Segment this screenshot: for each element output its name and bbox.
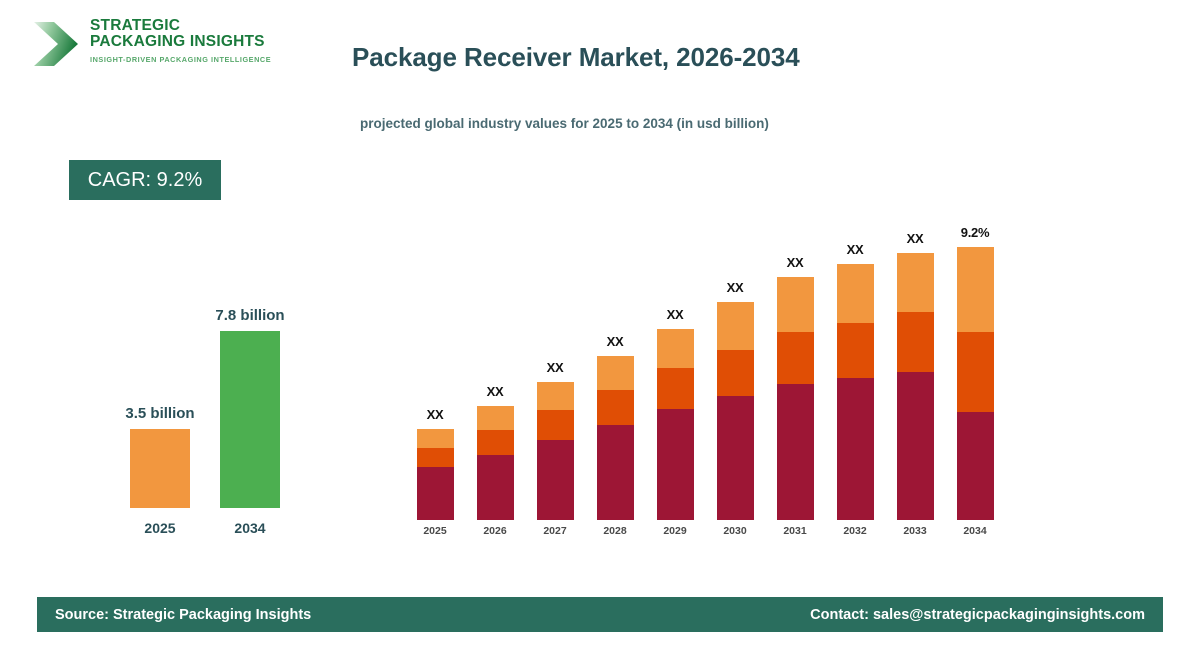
brand-name-line2: PACKAGING INSIGHTS <box>90 34 271 50</box>
stacked-bar-segment <box>477 430 514 455</box>
stacked-bar-top-label: XX <box>886 231 944 246</box>
stacked-bar-segment <box>597 425 634 520</box>
stacked-bar <box>417 429 454 520</box>
stacked-bar-segment <box>537 382 574 410</box>
stacked-bar-top-label: XX <box>406 407 464 422</box>
stacked-bar <box>897 253 934 520</box>
stacked-bar-group: XX2033 <box>886 231 944 537</box>
stacked-bar-segment <box>897 253 934 312</box>
stacked-bar-segment <box>957 332 994 412</box>
stacked-bar-group: 9.2%2034 <box>946 225 1004 537</box>
stacked-bar-segment <box>777 384 814 520</box>
stacked-bar <box>657 329 694 520</box>
stacked-bar-segment <box>957 412 994 520</box>
stacked-bar-group: XX2028 <box>586 334 644 537</box>
stacked-bar-group: XX2025 <box>406 407 464 537</box>
stacked-bar-segment <box>417 429 454 448</box>
stacked-bar-segment <box>417 467 454 520</box>
stacked-bar-segment <box>717 396 754 520</box>
footer-bar: Source: Strategic Packaging Insights Con… <box>37 597 1163 632</box>
stacked-bar-year-label: 2025 <box>406 525 464 537</box>
comparison-bar <box>220 331 280 508</box>
stacked-bar-segment <box>837 378 874 520</box>
comparison-bar-group: 3.5 billion2025 <box>110 405 210 536</box>
stacked-bar-segment <box>897 372 934 520</box>
stacked-bar <box>777 277 814 520</box>
stacked-bar-segment <box>417 448 454 467</box>
comparison-bar-group: 7.8 billion2034 <box>200 307 300 536</box>
stacked-bar-segment <box>717 350 754 396</box>
stacked-bar-segment <box>597 390 634 425</box>
stacked-bar-segment <box>597 356 634 390</box>
stacked-bar-year-label: 2026 <box>466 525 524 537</box>
stacked-bar-top-label: XX <box>646 307 704 322</box>
stacked-bar-segment <box>477 406 514 430</box>
segmented-forecast-chart: XX2025XX2026XX2027XX2028XX2029XX2030XX20… <box>400 195 1020 565</box>
footer-source: Source: Strategic Packaging Insights <box>55 607 311 623</box>
chevron-arrow-icon <box>32 18 82 70</box>
stacked-bar-year-label: 2031 <box>766 525 824 537</box>
comparison-bar-value-label: 3.5 billion <box>110 405 210 422</box>
stacked-bar-top-label: XX <box>826 242 884 257</box>
stacked-bar <box>537 382 574 520</box>
stacked-bar <box>597 356 634 520</box>
comparison-bar-year-label: 2034 <box>200 520 300 536</box>
stacked-bar-group: XX2032 <box>826 242 884 537</box>
page-title: Package Receiver Market, 2026-2034 <box>352 42 800 73</box>
stacked-bar-segment <box>657 329 694 368</box>
stacked-bar-year-label: 2029 <box>646 525 704 537</box>
stacked-bar-group: XX2026 <box>466 384 524 537</box>
stacked-bar-segment <box>777 277 814 332</box>
stacked-bar <box>477 406 514 520</box>
stacked-bar-year-label: 2033 <box>886 525 944 537</box>
stacked-bar-top-label: 9.2% <box>946 225 1004 240</box>
stacked-bar-top-label: XX <box>586 334 644 349</box>
stacked-bar-segment <box>837 264 874 323</box>
stacked-bar-top-label: XX <box>466 384 524 399</box>
stacked-bar-year-label: 2028 <box>586 525 644 537</box>
cagr-badge: CAGR: 9.2% <box>69 160 221 200</box>
stacked-bar-segment <box>657 368 694 409</box>
stacked-bar-top-label: XX <box>526 360 584 375</box>
stacked-bar-segment <box>837 323 874 378</box>
brand-wordmark: STRATEGIC PACKAGING INSIGHTS INSIGHT-DRI… <box>90 18 271 64</box>
stacked-bar-segment <box>537 410 574 440</box>
footer-contact: Contact: sales@strategicpackaginginsight… <box>810 607 1145 623</box>
stacked-bar-top-label: XX <box>766 255 824 270</box>
stacked-bar-segment <box>957 247 994 332</box>
cagr-badge-label: CAGR: 9.2% <box>88 169 202 192</box>
stacked-bar-year-label: 2032 <box>826 525 884 537</box>
stacked-bar-group: XX2031 <box>766 255 824 537</box>
market-size-comparison-chart: 3.5 billion20257.8 billion2034 <box>60 230 310 570</box>
comparison-bar-value-label: 7.8 billion <box>200 307 300 324</box>
stacked-bar-year-label: 2027 <box>526 525 584 537</box>
stacked-bar-segment <box>477 455 514 520</box>
stacked-bar-segment <box>897 312 934 372</box>
stacked-bar-top-label: XX <box>706 280 764 295</box>
stacked-bar-segment <box>717 302 754 350</box>
brand-tagline: INSIGHT-DRIVEN PACKAGING INTELLIGENCE <box>90 55 271 64</box>
stacked-bar-segment <box>777 332 814 384</box>
stacked-bar-segment <box>657 409 694 520</box>
stacked-bar-group: XX2029 <box>646 307 704 537</box>
stacked-bar-group: XX2027 <box>526 360 584 537</box>
stacked-bar-group: XX2030 <box>706 280 764 537</box>
stacked-bar-segment <box>537 440 574 520</box>
stacked-bar <box>957 247 994 520</box>
stacked-bar-year-label: 2034 <box>946 525 1004 537</box>
comparison-bar <box>130 429 190 508</box>
stacked-bar-year-label: 2030 <box>706 525 764 537</box>
comparison-bar-year-label: 2025 <box>110 520 210 536</box>
page-subtitle: projected global industry values for 202… <box>360 116 769 131</box>
brand-logo: STRATEGIC PACKAGING INSIGHTS INSIGHT-DRI… <box>30 14 270 78</box>
brand-name-line1: STRATEGIC <box>90 18 271 34</box>
stacked-bar <box>717 302 754 520</box>
stacked-bar <box>837 264 874 520</box>
